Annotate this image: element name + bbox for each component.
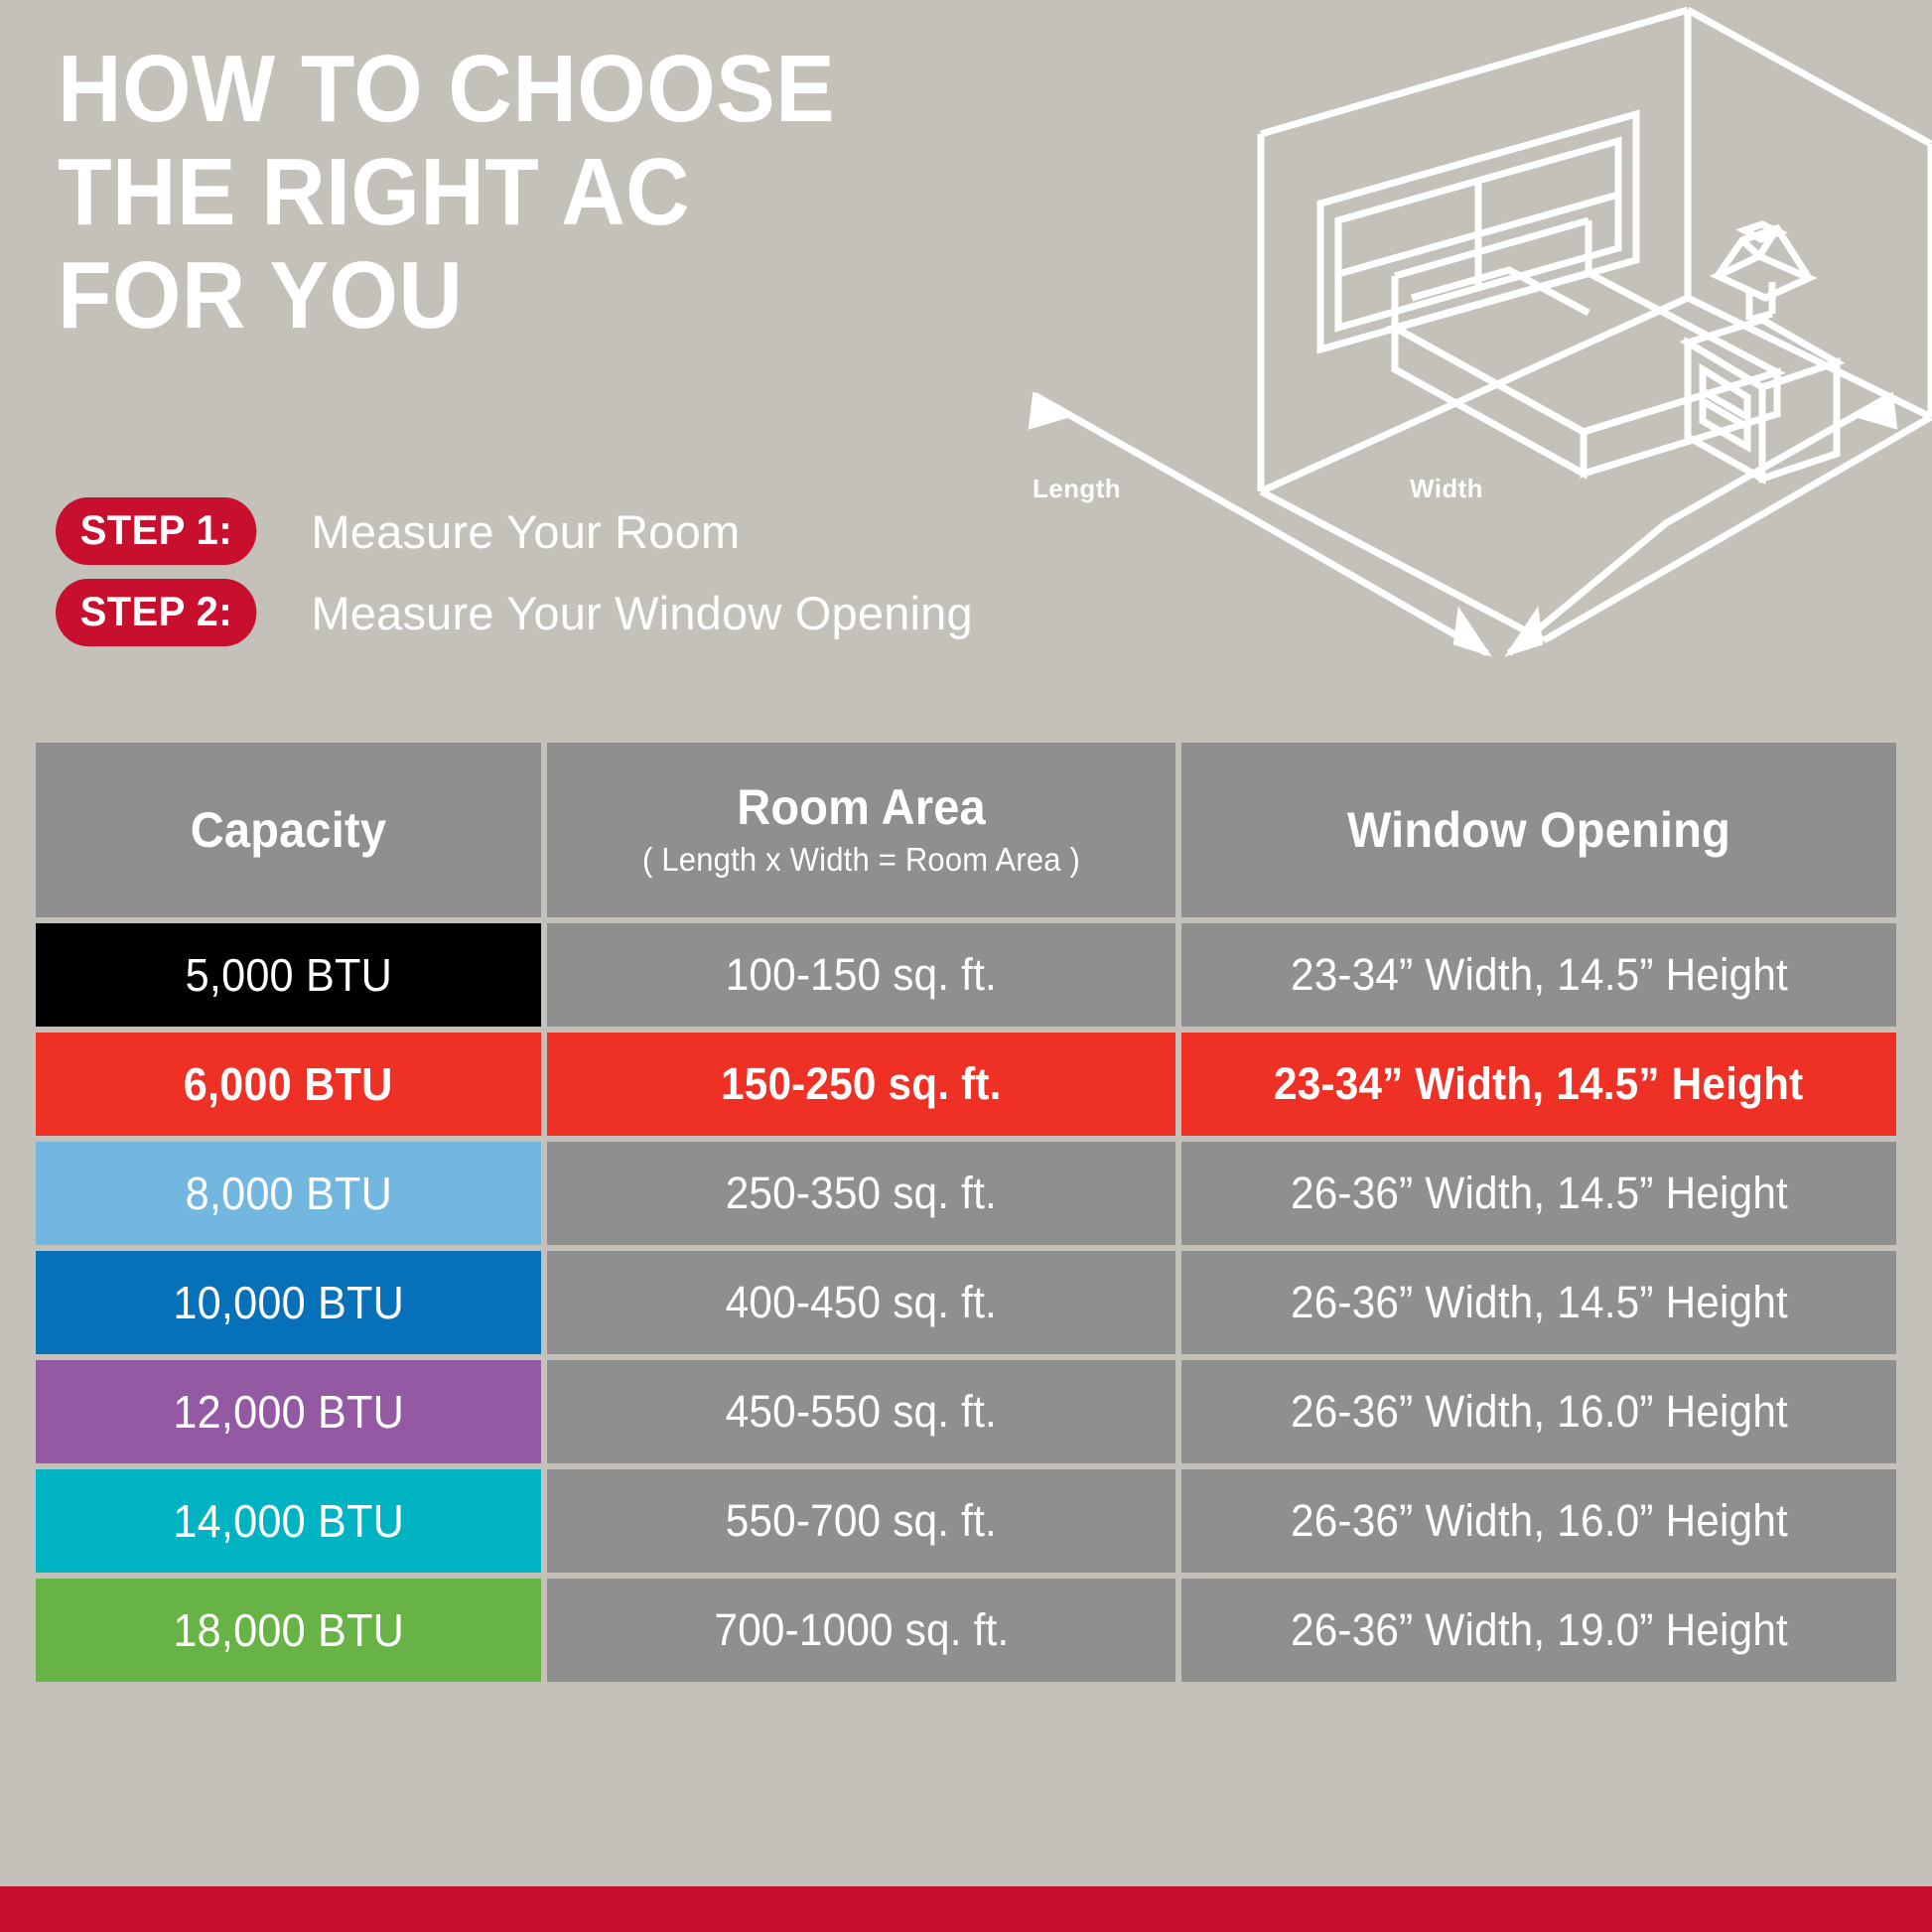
- cell-capacity: 6,000 BTU: [36, 1033, 541, 1136]
- floor-front-left-edge: [1261, 491, 1544, 640]
- cell-window-opening: 23-34” Width, 14.5” Height: [1181, 923, 1896, 1027]
- cell-window-opening: 26-36” Width, 14.5” Height: [1181, 1142, 1896, 1245]
- page-title-line-2: THE RIGHT AC: [58, 141, 889, 244]
- cell-room-area: 100-150 sq. ft.: [547, 923, 1175, 1027]
- column-header-room-area-main: Room Area: [566, 781, 1157, 834]
- cell-window-opening: 26-36” Width, 16.0” Height: [1181, 1360, 1896, 1463]
- floor-front-right-edge: [1544, 417, 1931, 640]
- table-row: 5,000 BTU100-150 sq. ft.23-34” Width, 14…: [36, 923, 1896, 1027]
- cell-capacity: 8,000 BTU: [36, 1142, 541, 1245]
- cell-room-area: 400-450 sq. ft.: [547, 1251, 1175, 1354]
- room-illustration: [993, 0, 1932, 715]
- table-row: 6,000 BTU150-250 sq. ft.23-34” Width, 14…: [36, 1033, 1896, 1136]
- length-arrow-head-end: [1455, 612, 1487, 653]
- column-header-room-area: Room Area ( Length x Width = Room Area ): [547, 743, 1175, 917]
- page-title-line-1: HOW TO CHOOSE: [58, 38, 889, 141]
- column-header-capacity-main: Capacity: [51, 804, 525, 857]
- table-row: 14,000 BTU550-700 sq. ft.26-36” Width, 1…: [36, 1469, 1896, 1573]
- table-row: 12,000 BTU450-550 sq. ft.26-36” Width, 1…: [36, 1360, 1896, 1463]
- page-title: HOW TO CHOOSE THE RIGHT AC FOR YOU: [58, 38, 889, 347]
- step-item-1: STEP 1: Measure Your Room: [56, 496, 973, 566]
- cell-capacity: 14,000 BTU: [36, 1469, 541, 1573]
- wall-top-right-edge: [1688, 10, 1931, 144]
- table-row: 18,000 BTU700-1000 sq. ft.26-36” Width, …: [36, 1579, 1896, 1682]
- cell-window-opening: 26-36” Width, 19.0” Height: [1181, 1579, 1896, 1682]
- width-dimension-label: Width: [1410, 474, 1483, 504]
- column-header-window-opening: Window Opening: [1181, 743, 1896, 917]
- step-1-label: Measure Your Room: [311, 508, 740, 555]
- isometric-room-svg: [993, 0, 1932, 715]
- bottom-accent-bar: [0, 1886, 1932, 1932]
- bed-side-left: [1395, 328, 1584, 474]
- cell-room-area: 450-550 sq. ft.: [547, 1360, 1175, 1463]
- step-item-2: STEP 2: Measure Your Window Opening: [56, 578, 973, 647]
- table-header-row: Capacity Room Area ( Length x Width = Ro…: [36, 743, 1896, 917]
- step-1-badge: STEP 1:: [56, 497, 257, 565]
- table-row: 10,000 BTU400-450 sq. ft.26-36” Width, 1…: [36, 1251, 1896, 1354]
- cell-window-opening: 23-34” Width, 14.5” Height: [1181, 1033, 1896, 1136]
- table-header: Capacity Room Area ( Length x Width = Ro…: [36, 743, 1896, 917]
- length-dimension-label: Length: [1033, 474, 1121, 504]
- step-2-badge: STEP 2:: [56, 579, 257, 646]
- column-header-window-opening-main: Window Opening: [1203, 804, 1875, 857]
- floor-right-edge: [1688, 298, 1931, 417]
- column-header-room-area-sub: ( Length x Width = Room Area ): [566, 841, 1157, 879]
- width-arrow-head-end: [1509, 612, 1541, 653]
- cell-room-area: 700-1000 sq. ft.: [547, 1579, 1175, 1682]
- cell-room-area: 250-350 sq. ft.: [547, 1142, 1175, 1245]
- header-area: HOW TO CHOOSE THE RIGHT AC FOR YOU STEP …: [0, 0, 1932, 735]
- cell-window-opening: 26-36” Width, 16.0” Height: [1181, 1469, 1896, 1573]
- column-header-capacity: Capacity: [36, 743, 541, 917]
- table-row: 8,000 BTU250-350 sq. ft.26-36” Width, 14…: [36, 1142, 1896, 1245]
- cell-window-opening: 26-36” Width, 14.5” Height: [1181, 1251, 1896, 1354]
- cell-capacity: 10,000 BTU: [36, 1251, 541, 1354]
- cell-room-area: 550-700 sq. ft.: [547, 1469, 1175, 1573]
- bed-pillow: [1412, 270, 1588, 313]
- page-title-line-3: FOR YOU: [58, 244, 889, 347]
- steps-list: STEP 1: Measure Your Room STEP 2: Measur…: [56, 496, 973, 659]
- bed-side-right: [1584, 372, 1777, 474]
- cell-capacity: 12,000 BTU: [36, 1360, 541, 1463]
- capacity-table: Capacity Room Area ( Length x Width = Ro…: [30, 737, 1902, 1688]
- table-body: 5,000 BTU100-150 sq. ft.23-34” Width, 14…: [36, 923, 1896, 1682]
- cell-room-area: 150-250 sq. ft.: [547, 1033, 1175, 1136]
- cell-capacity: 5,000 BTU: [36, 923, 541, 1027]
- cell-capacity: 18,000 BTU: [36, 1579, 541, 1682]
- step-2-label: Measure Your Window Opening: [311, 590, 972, 636]
